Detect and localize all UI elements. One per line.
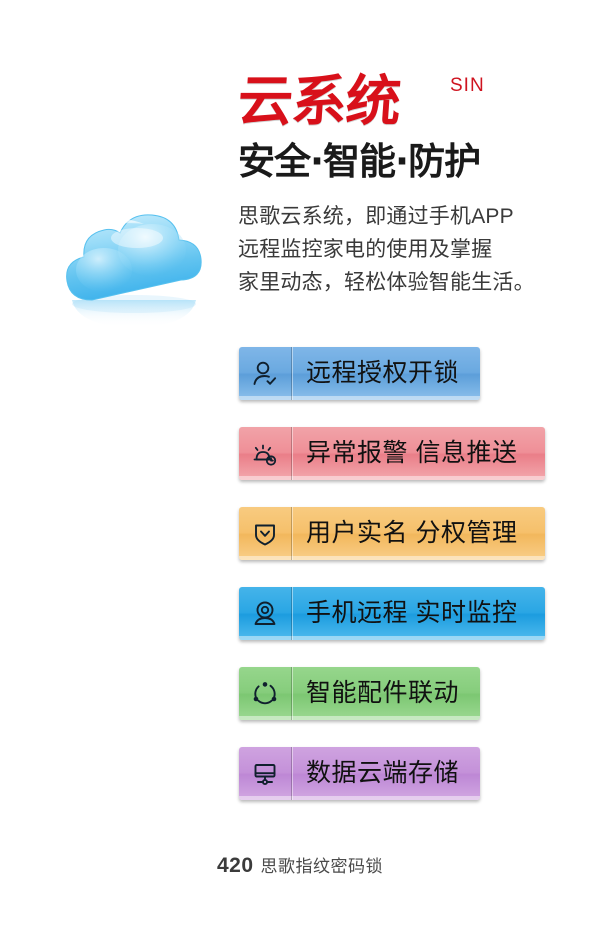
feature-label: 手机远程 实时监控 bbox=[292, 587, 545, 640]
product-page: 云系统 SIN 安全·智能·防护 思歌云系统，即通过手机APP 远程监控家电的使… bbox=[0, 0, 600, 945]
feature-label: 用户实名 分权管理 bbox=[292, 507, 545, 560]
brand-superscript: SIN bbox=[450, 75, 485, 97]
feature-item-remote-unlock[interactable]: 远程授权开锁 bbox=[239, 347, 480, 400]
page-subtitle: 安全·智能·防护 bbox=[238, 140, 578, 184]
webcam-icon bbox=[239, 587, 291, 640]
feature-item-alarm-push[interactable]: 异常报警 信息推送 bbox=[239, 427, 545, 480]
header-block: 云系统 SIN 安全·智能·防护 bbox=[238, 72, 578, 184]
shield-check-icon bbox=[239, 507, 291, 560]
share-nodes-icon bbox=[239, 667, 291, 720]
feature-list: 远程授权开锁 异常报警 信息推送 bbox=[239, 347, 545, 827]
user-check-icon bbox=[239, 347, 291, 400]
feature-label: 远程授权开锁 bbox=[292, 347, 480, 400]
monitor-storage-icon bbox=[239, 747, 291, 800]
feature-item-remote-monitor[interactable]: 手机远程 实时监控 bbox=[239, 587, 545, 640]
page-footer: 420思歌指纹密码锁 bbox=[0, 852, 600, 878]
feature-item-cloud-storage[interactable]: 数据云端存储 bbox=[239, 747, 480, 800]
feature-item-realname-permission[interactable]: 用户实名 分权管理 bbox=[239, 507, 545, 560]
cloud-illustration bbox=[42, 192, 222, 342]
description-line-3: 家里动态，轻松体验智能生活。 bbox=[238, 266, 568, 299]
feature-label: 数据云端存储 bbox=[292, 747, 480, 800]
description-line-1: 思歌云系统，即通过手机APP bbox=[238, 200, 568, 233]
feature-label: 智能配件联动 bbox=[292, 667, 480, 720]
feature-item-accessory-linkage[interactable]: 智能配件联动 bbox=[239, 667, 480, 720]
alarm-siren-icon bbox=[239, 427, 291, 480]
description-line-2: 远程监控家电的使用及掌握 bbox=[238, 233, 568, 266]
description-text: 思歌云系统，即通过手机APP 远程监控家电的使用及掌握 家里动态，轻松体验智能生… bbox=[238, 200, 568, 299]
feature-label: 异常报警 信息推送 bbox=[292, 427, 545, 480]
page-title: 云系统 bbox=[236, 72, 402, 130]
title-row: 云系统 SIN bbox=[238, 72, 578, 134]
page-number: 420 bbox=[217, 854, 254, 877]
brand-name: 思歌指纹密码锁 bbox=[261, 857, 384, 876]
cloud-icon bbox=[42, 192, 222, 342]
